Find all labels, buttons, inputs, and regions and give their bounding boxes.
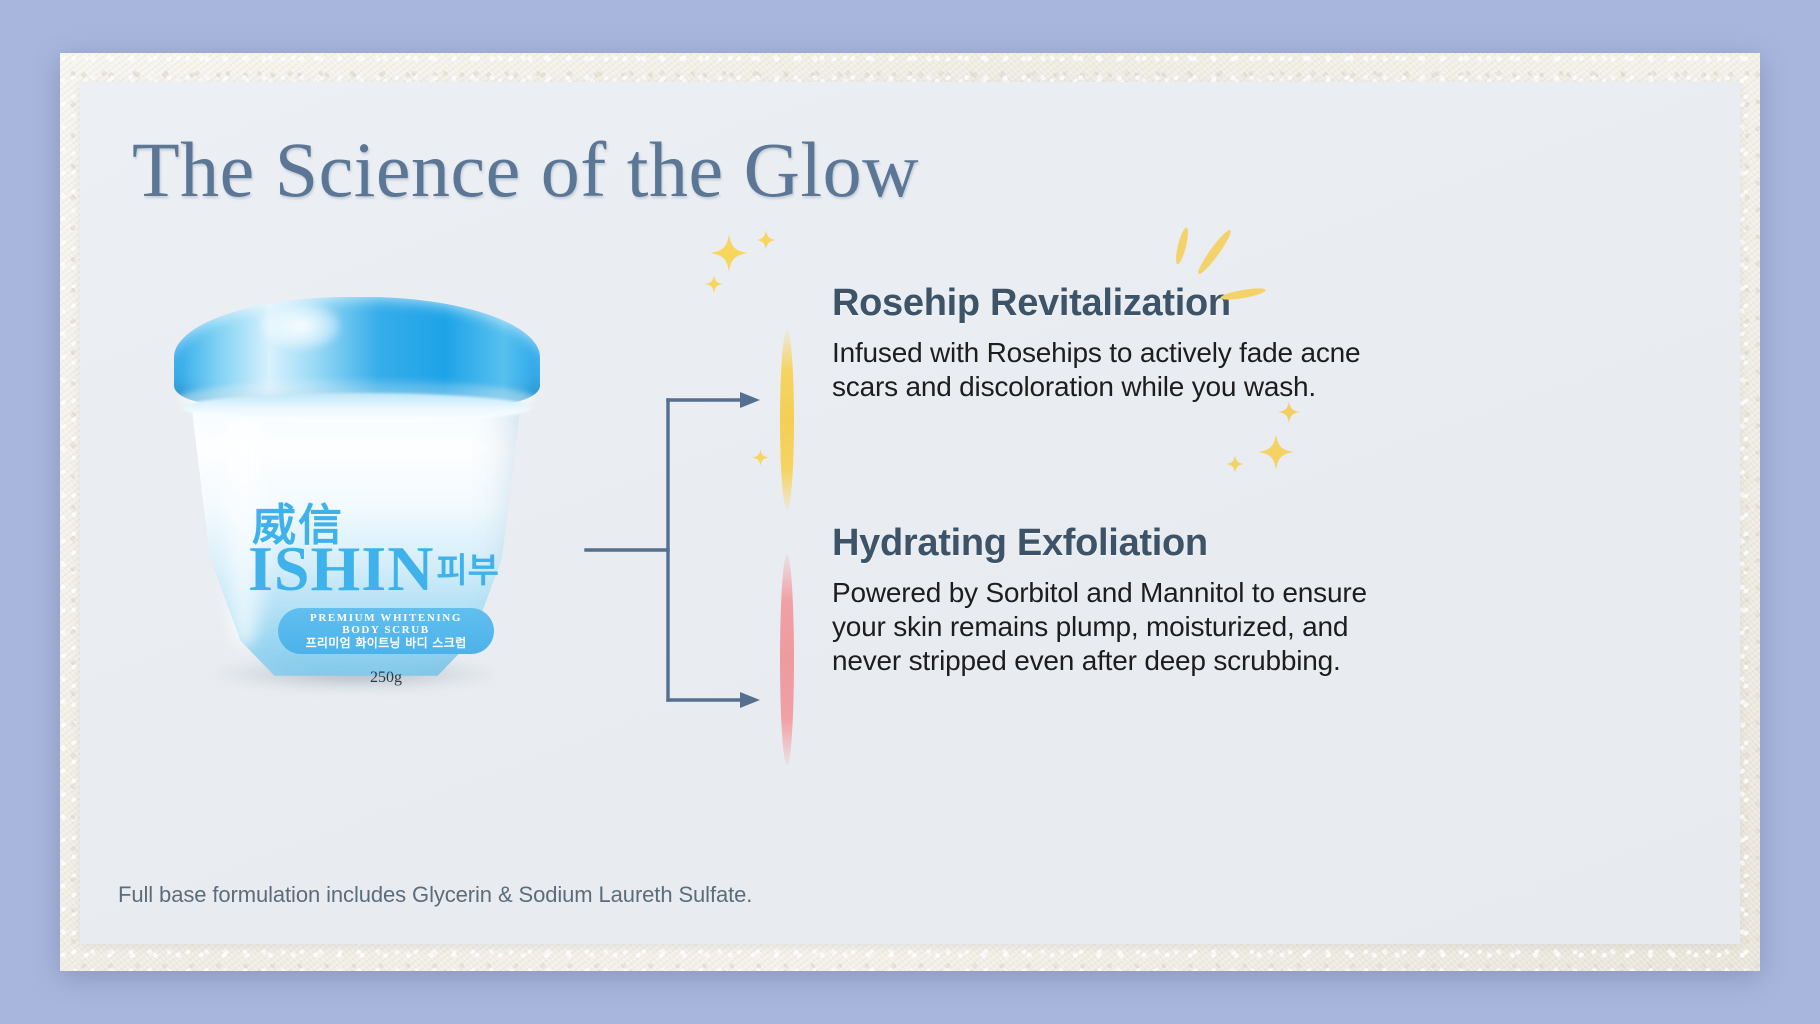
sparkle-icon — [710, 234, 748, 272]
brand-wordmark: ISHIN 피부 — [248, 537, 499, 601]
brand-latin-name: ISHIN — [248, 537, 434, 601]
brand-korean-name: 피부 — [436, 554, 499, 588]
sparkle-icon — [756, 230, 776, 250]
slide-card: The Science of the Glow 威信 ISHIN 피부 PREM… — [80, 82, 1740, 944]
page-title: The Science of the Glow — [132, 129, 919, 211]
accent-bar-yellow — [780, 330, 794, 510]
product-label-pill: PREMIUM WHITENING BODY SCRUB 프리미엄 화이트닝 바… — [278, 608, 494, 654]
net-weight-label: 250g — [278, 669, 494, 687]
label-line-2: BODY SCRUB — [278, 624, 494, 636]
feature-text-group: Rosehip Revitalization Infused with Rose… — [832, 282, 1392, 404]
jar-lid-highlight — [262, 303, 340, 349]
sparkle-icon — [705, 275, 723, 293]
feature-heading: Rosehip Revitalization — [832, 282, 1392, 326]
sparkle-icon — [1278, 401, 1300, 423]
slide-canvas: The Science of the Glow 威信 ISHIN 피부 PREM… — [0, 0, 1820, 1024]
sparkle-icon — [1226, 455, 1244, 473]
connector-bracket — [580, 382, 760, 712]
label-line-1: PREMIUM WHITENING — [278, 612, 494, 624]
sparkle-dash — [1174, 227, 1191, 266]
jar-neck — [182, 393, 532, 423]
feature-heading: Hydrating Exfoliation — [832, 522, 1392, 566]
product-jar-image: 威信 ISHIN 피부 PREMIUM WHITENING BODY SCRUB… — [100, 297, 620, 717]
feature-text-group: Hydrating Exfoliation Powered by Sorbito… — [832, 522, 1392, 678]
accent-bar-pink — [780, 554, 794, 766]
label-line-korean: 프리미엄 화이트닝 바디 스크럽 — [278, 636, 494, 651]
arrowhead-top — [740, 392, 760, 408]
footer-note: Full base formulation includes Glycerin … — [118, 882, 752, 908]
feature-body: Powered by Sorbitol and Mannitol to ensu… — [832, 576, 1392, 678]
sparkle-dash — [1195, 228, 1234, 277]
sparkle-icon — [1258, 434, 1294, 470]
feature-body: Infused with Rosehips to actively fade a… — [832, 336, 1392, 404]
arrowhead-bottom — [740, 692, 760, 708]
